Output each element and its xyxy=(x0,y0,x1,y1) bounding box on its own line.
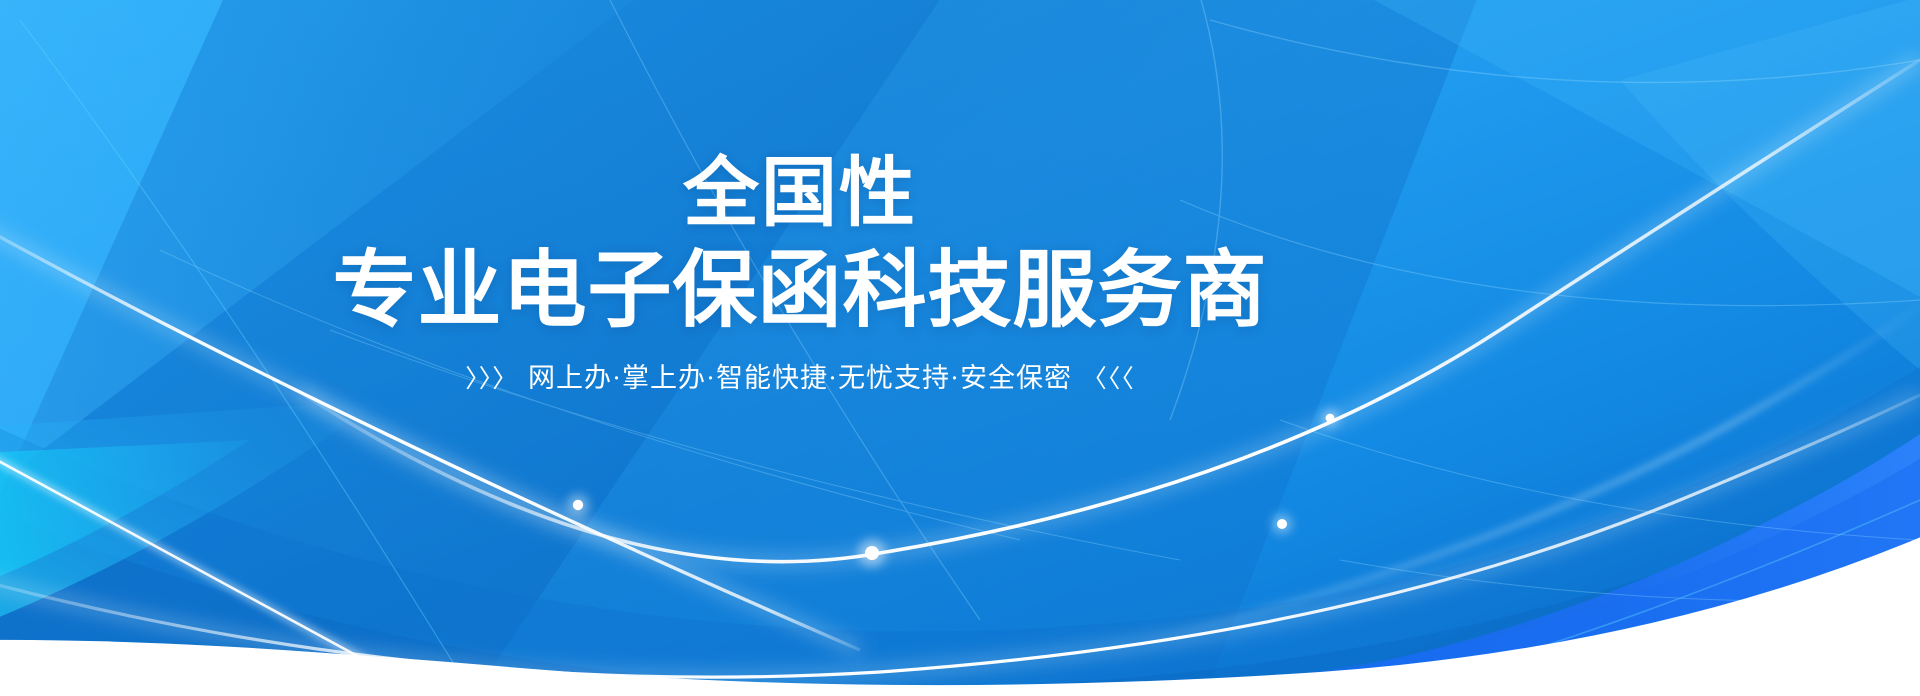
glow-dot xyxy=(1272,514,1292,534)
swoosh-main-bottom xyxy=(300,60,1920,562)
glow-dot xyxy=(1321,409,1339,427)
glow-dot xyxy=(858,539,886,567)
promo-banner: 全国性 专业电子保函科技服务商 〉〉〉 网上办·掌上办·智能快捷·无忧支持·安全… xyxy=(0,0,1920,696)
banner-decorations xyxy=(0,0,1920,696)
glow-dot xyxy=(567,494,589,516)
swoosh-diagonal-left xyxy=(0,215,860,650)
